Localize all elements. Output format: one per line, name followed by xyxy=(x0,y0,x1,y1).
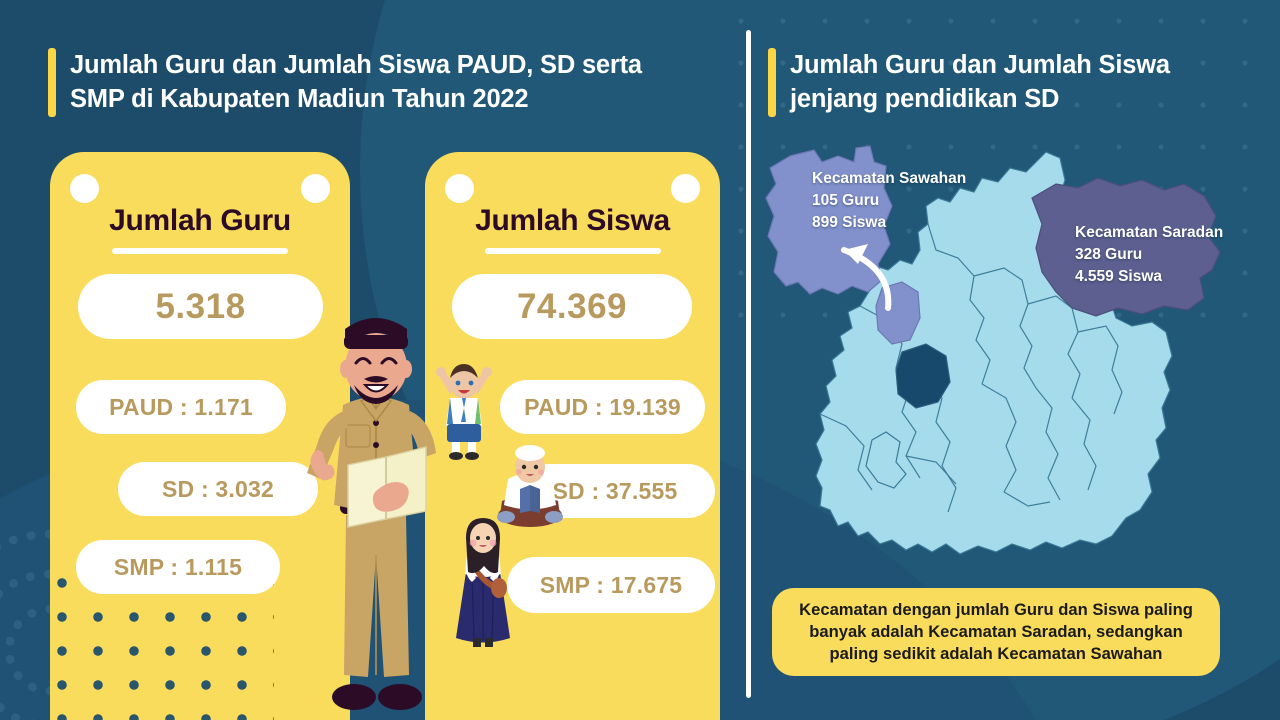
card-punch-hole-left xyxy=(70,174,99,203)
card-punch-hole-right xyxy=(301,174,330,203)
card-heading-rule xyxy=(485,248,661,254)
title-accent-bar xyxy=(48,48,56,117)
right-title-text: Jumlah Guru dan Jumlah Siswa jenjang pen… xyxy=(790,48,1170,117)
breakdown-pill-paud-guru: PAUD : 1.171 xyxy=(76,380,286,434)
student-boy-illustration xyxy=(430,360,498,460)
right-panel-title: Jumlah Guru dan Jumlah Siswa jenjang pen… xyxy=(768,48,1238,117)
map-region: Kecamatan Sawahan 105 Guru 899 Siswa Kec… xyxy=(760,140,1280,585)
left-title-text: Jumlah Guru dan Jumlah Siswa PAUD, SD se… xyxy=(70,48,642,117)
breakdown-pill-smp-siswa: SMP : 17.675 xyxy=(507,557,715,613)
card-heading-rule xyxy=(112,248,288,254)
student-girl-illustration xyxy=(452,512,514,652)
panel-divider xyxy=(746,30,751,698)
title-accent-bar xyxy=(768,48,776,117)
map-caption-box: Kecamatan dengan jumlah Guru dan Siswa p… xyxy=(772,588,1220,676)
card-punch-hole-left xyxy=(445,174,474,203)
breakdown-pill-paud-siswa: PAUD : 19.139 xyxy=(500,380,705,434)
total-pill-siswa: 74.369 xyxy=(452,274,692,339)
map-caption-text: Kecamatan dengan jumlah Guru dan Siswa p… xyxy=(799,599,1193,666)
map-label-sawahan: Kecamatan Sawahan 105 Guru 899 Siswa xyxy=(812,168,966,234)
card-heading-guru: Jumlah Guru xyxy=(50,204,350,238)
breakdown-pill-smp-guru: SMP : 1.115 xyxy=(76,540,280,594)
card-heading-siswa: Jumlah Siswa xyxy=(425,204,720,238)
card-punch-hole-right xyxy=(671,174,700,203)
left-panel-title: Jumlah Guru dan Jumlah Siswa PAUD, SD se… xyxy=(48,48,728,117)
map-label-saradan: Kecamatan Saradan 328 Guru 4.559 Siswa xyxy=(1075,222,1223,288)
